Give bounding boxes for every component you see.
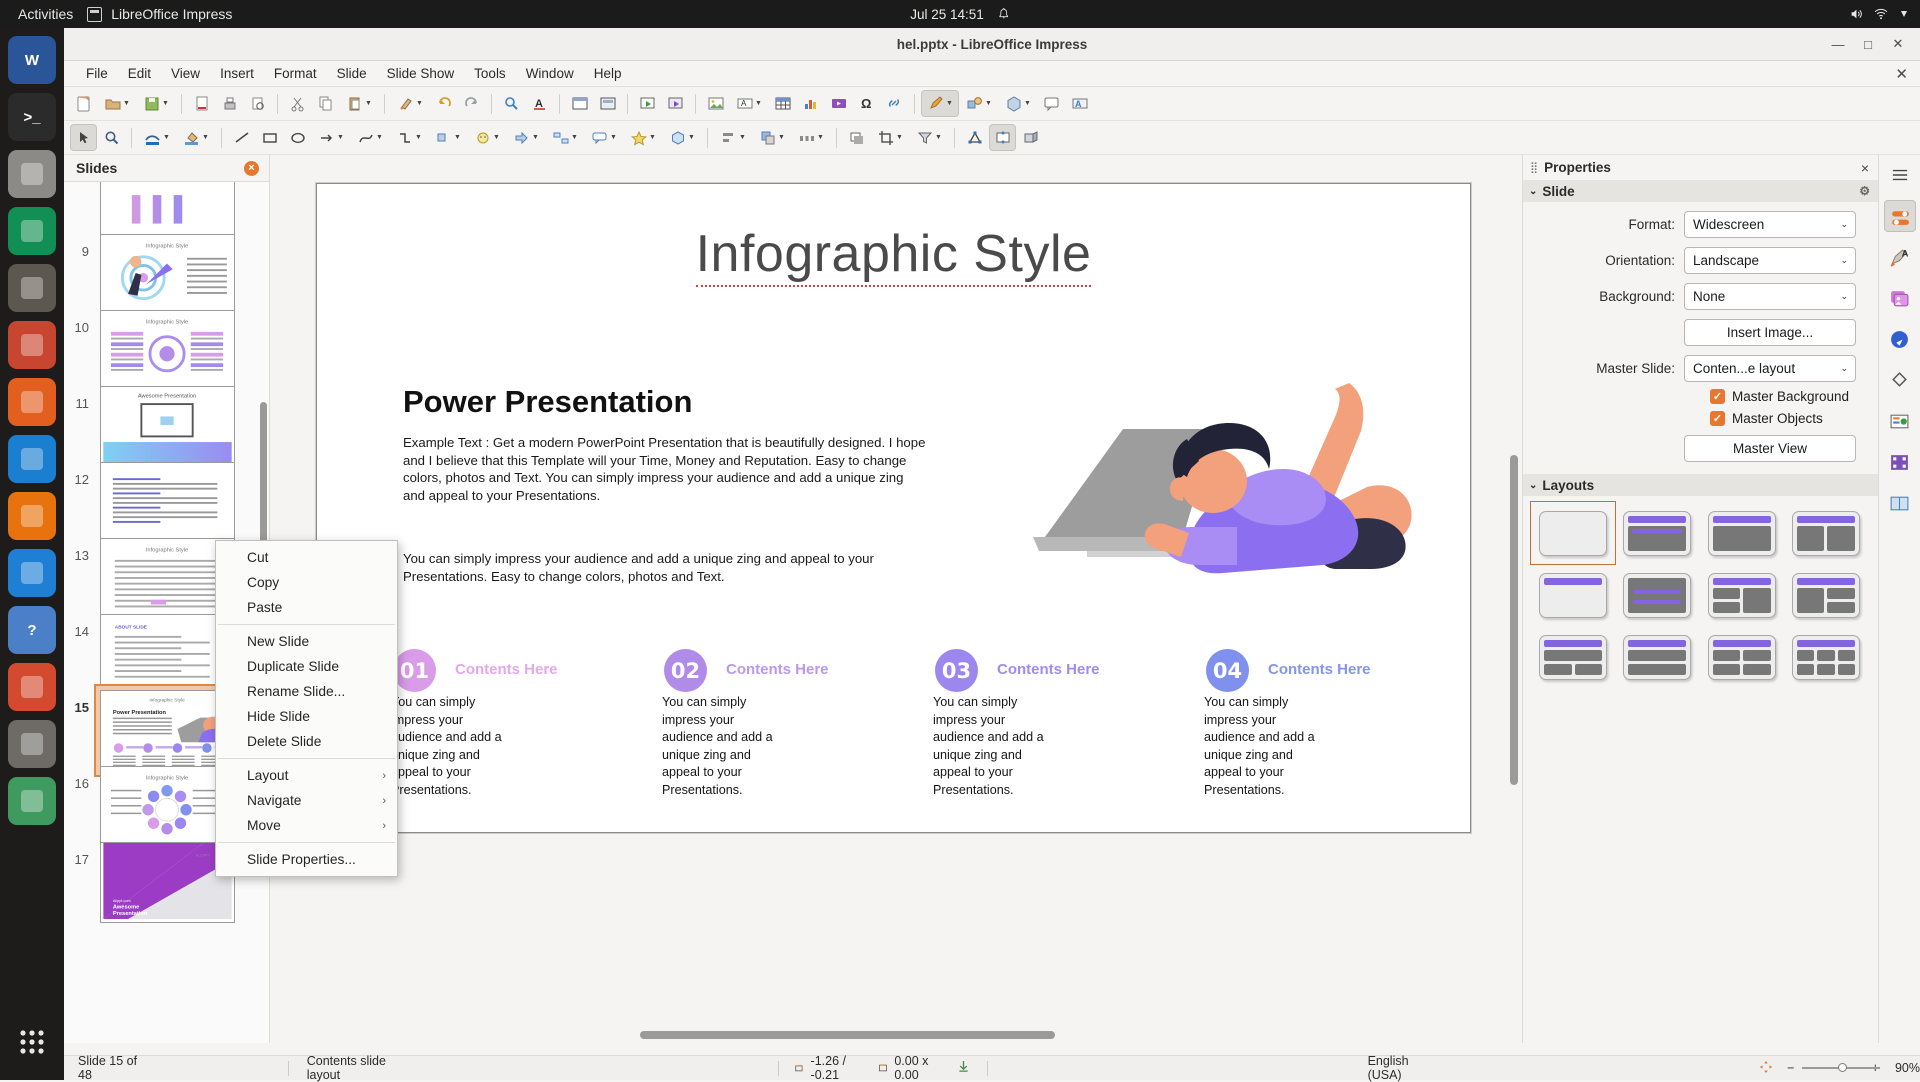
slide-number: 14	[64, 610, 96, 639]
menu-format[interactable]: Format	[264, 63, 327, 84]
active-app-label: LibreOffice Impress	[111, 6, 232, 22]
3d-objects-icon[interactable]: ▼	[999, 90, 1037, 117]
context-menu-item-rename-slide[interactable]: Rename Slide...	[216, 679, 397, 704]
orientation-select-value: Landscape	[1693, 253, 1759, 268]
layout-preview	[1539, 573, 1607, 618]
title-two-content-layout[interactable]	[1784, 502, 1868, 564]
layout-title-bar	[1544, 640, 1602, 647]
zoom-out-button[interactable]: −	[1787, 1061, 1794, 1075]
chevron-down-icon: ⌄	[1840, 219, 1848, 230]
master-slide-row: Master Slide: Conten...e layout ⌄	[1529, 355, 1856, 382]
gear-icon[interactable]: ⚙	[1859, 184, 1870, 198]
insert-image-button[interactable]: Insert Image...	[1684, 319, 1856, 346]
svg-text:Infographic Style: Infographic Style	[146, 319, 188, 325]
svg-text:A: A	[535, 98, 543, 110]
zoom-icon[interactable]	[98, 124, 125, 151]
master-view-button[interactable]: Master View	[1684, 435, 1856, 462]
toolbar-separator	[836, 128, 837, 148]
slide-preview[interactable]: Infographic Style	[100, 310, 235, 391]
context-menu-separator	[218, 842, 395, 843]
title-six-content-layout[interactable]	[1784, 626, 1868, 688]
dock-item-libreoffice-calc[interactable]	[8, 207, 56, 255]
layout-row-box	[1628, 664, 1686, 675]
woman-with-laptop-illustration[interactable]	[937, 369, 1427, 609]
copy-icon[interactable]	[312, 90, 339, 117]
context-menu-label: Delete Slide	[247, 734, 321, 749]
layout-three-box	[1797, 664, 1855, 675]
menu-insert[interactable]: Insert	[210, 63, 264, 84]
dock-item-libreoffice-writer[interactable]: W	[8, 36, 56, 84]
slide-number: 11	[64, 382, 96, 411]
insert-image-row: Insert Image...	[1529, 319, 1856, 346]
context-menu-label: Hide Slide	[247, 709, 310, 724]
power-icon	[1898, 8, 1910, 20]
standard-toolbar[interactable]: ▼▼▼▼AA▼Ω▼▼▼A	[64, 87, 1920, 121]
orientation-select-row: Orientation:Landscape⌄	[1529, 247, 1856, 274]
layout-two-box	[1713, 664, 1771, 675]
slide-editor[interactable]: Infographic Style Power Presentation Exa…	[270, 155, 1522, 1043]
layout-preview	[1623, 635, 1691, 680]
svg-text:Power Presentation: Power Presentation	[113, 710, 167, 716]
shapes-tab[interactable]	[1884, 364, 1916, 396]
line-icon[interactable]	[228, 124, 255, 151]
chevron-right-icon: ›	[382, 795, 386, 807]
toolbar-separator	[707, 128, 708, 148]
dock-item-help[interactable]: ?	[8, 606, 56, 654]
layout-preview	[1539, 511, 1607, 556]
start-from-current-slide-icon[interactable]	[662, 90, 689, 117]
title-content-layout[interactable]	[1615, 502, 1699, 564]
layout-three-box	[1797, 650, 1855, 661]
layouts-section-title: Layouts	[1542, 478, 1594, 493]
column-body-01[interactable]: You can simply impress your audience and…	[391, 694, 509, 799]
master-slide-select[interactable]: Conten...e layout ⌄	[1684, 355, 1856, 382]
checkbox-label: Master Background	[1732, 389, 1849, 404]
menu-help[interactable]: Help	[584, 63, 632, 84]
toggle-extrusion-icon[interactable]	[1017, 124, 1044, 151]
points-icon[interactable]	[961, 124, 988, 151]
layout-preview	[1792, 511, 1860, 556]
dock-item-gimp[interactable]	[8, 264, 56, 312]
redo-icon[interactable]	[458, 90, 485, 117]
context-menu-item-hide-slide[interactable]: Hide Slide	[216, 704, 397, 729]
zoom-slider[interactable]	[1802, 1062, 1863, 1074]
toolbar-separator	[559, 94, 560, 114]
ellipse-icon[interactable]	[284, 124, 311, 151]
svg-text:A: A	[1075, 99, 1082, 109]
gnome-top-bar: Activities LibreOffice Impress Jul 25 14…	[0, 0, 1920, 28]
connector-icon[interactable]: ▼	[390, 124, 428, 151]
toolbar-separator	[384, 94, 385, 114]
properties-sidebar[interactable]: ⣿ Properties × ⌄ Slide ⚙ Format:Widescre…	[1522, 155, 1920, 1043]
slide-title[interactable]: Infographic Style	[317, 224, 1470, 284]
layout-grid[interactable]	[1523, 496, 1878, 688]
context-menu-label: Rename Slide...	[247, 684, 345, 699]
title-four-content-layout[interactable]	[1700, 626, 1784, 688]
layouts-section-header[interactable]: ⌄ Layouts	[1523, 474, 1878, 496]
layout-content-box	[1713, 526, 1771, 551]
chevron-down-icon: ⌄	[1840, 291, 1848, 302]
object-size: 0.00 x 0.00	[894, 1054, 941, 1082]
drawing-toolbar[interactable]: ▼▼▼▼▼▼▼▼▼▼▼▼▼▼▼▼▼	[64, 121, 1920, 155]
slide-preview[interactable]	[100, 462, 235, 543]
layout-centered-box	[1628, 578, 1686, 613]
slide-canvas[interactable]: Infographic Style Power Presentation Exa…	[316, 183, 1471, 833]
insert-shapes-icon[interactable]: ▼	[960, 90, 998, 117]
svg-text:A: A	[1902, 248, 1909, 259]
svg-text:Allppt.com: Allppt.com	[113, 899, 131, 903]
find-replace-icon[interactable]	[498, 90, 525, 117]
context-menu-item-copy[interactable]: Copy	[216, 570, 397, 595]
align-icon[interactable]: ▼	[714, 124, 752, 151]
toolbar-separator	[181, 94, 182, 114]
context-menu-label: Move	[247, 818, 281, 833]
dock-item-vlc[interactable]	[8, 492, 56, 540]
slide-counter: Slide 15 of 48	[78, 1054, 138, 1082]
context-menu-item-new-slide[interactable]: New Slide	[216, 629, 397, 654]
blank-layout[interactable]	[1531, 502, 1615, 564]
master-checkboxes[interactable]: ✓Master Background✓Master Objects	[1523, 389, 1878, 426]
layout-title-bar	[1628, 516, 1686, 523]
animation-tab[interactable]	[1884, 446, 1916, 478]
filter-icon[interactable]: ▼	[910, 124, 948, 151]
cursor-position-group: -1.26 / -0.21	[795, 1054, 863, 1082]
svg-text:Awesome: Awesome	[113, 905, 139, 911]
orientation-select[interactable]: Landscape⌄	[1684, 247, 1856, 274]
slide-transition-tab[interactable]	[1884, 487, 1916, 519]
context-menu-label: Cut	[247, 550, 268, 565]
context-menu-item-move[interactable]: Move›	[216, 813, 397, 838]
toolbar-separator	[221, 128, 222, 148]
slide-number: 17	[64, 838, 96, 867]
dock-item-vs-code[interactable]	[8, 549, 56, 597]
svg-text:Presentation: Presentation	[113, 911, 148, 917]
svg-text:ALLPPT: ALLPPT	[196, 853, 211, 857]
orientation-select-label: Orientation:	[1529, 253, 1684, 268]
menu-window[interactable]: Window	[516, 63, 584, 84]
layout-preview	[1539, 635, 1607, 680]
title-three-rows-layout[interactable]	[1615, 626, 1699, 688]
window-title: hel.pptx - LibreOffice Impress	[897, 37, 1088, 52]
new-document-icon[interactable]	[70, 90, 97, 117]
column-badge-02[interactable]: 02	[664, 649, 707, 692]
clock-area[interactable]: Jul 25 14:51	[910, 7, 1010, 22]
column-title-04[interactable]: Contents Here	[1268, 661, 1371, 678]
navigator-tab[interactable]	[1884, 323, 1916, 355]
arrange-icon[interactable]: ▼	[753, 124, 791, 151]
app-dock[interactable]: W>_?	[0, 28, 64, 1080]
activities-button[interactable]: Activities	[0, 6, 87, 22]
clock-label: Jul 25 14:51	[910, 7, 984, 22]
format-select[interactable]: Widescreen⌄	[1684, 211, 1856, 238]
svg-text:A: A	[741, 99, 747, 108]
slide-preview[interactable]: Awesome Presentation	[100, 386, 235, 467]
layout-title-bar	[1797, 578, 1855, 585]
styles-tab[interactable]: A	[1884, 241, 1916, 273]
slide-number: 13	[64, 534, 96, 563]
toolbar-separator	[131, 128, 132, 148]
3d-shapes-icon[interactable]: ▼	[663, 124, 701, 151]
insert-fontwork-icon[interactable]: A	[1066, 90, 1093, 117]
context-menu-item-layout[interactable]: Layout›	[216, 763, 397, 788]
layout-title-bar	[1713, 640, 1771, 647]
properties-tab[interactable]	[1884, 200, 1916, 232]
active-app-indicator[interactable]: LibreOffice Impress	[87, 6, 232, 22]
impress-app-icon	[87, 7, 102, 22]
network-icon	[1874, 7, 1888, 21]
slide-section-header[interactable]: ⌄ Slide ⚙	[1523, 180, 1878, 202]
column-badge-03[interactable]: 03	[935, 649, 978, 692]
context-menu-item-duplicate-slide[interactable]: Duplicate Slide	[216, 654, 397, 679]
context-menu-label: Duplicate Slide	[247, 659, 339, 674]
checkbox-master-background[interactable]: ✓Master Background	[1710, 389, 1878, 404]
insert-comment-icon[interactable]	[1038, 90, 1065, 117]
svg-text:Infographic Style: Infographic Style	[146, 243, 188, 249]
line-color-icon[interactable]: ▼	[138, 124, 176, 151]
insert-table-icon[interactable]	[769, 90, 796, 117]
menu-tools[interactable]: Tools	[464, 63, 516, 84]
checkbox-label: Master Objects	[1732, 411, 1823, 426]
dock-item-settings[interactable]	[8, 720, 56, 768]
layout-title-bar	[1797, 516, 1855, 523]
slide-number: 12	[64, 458, 96, 487]
check-icon: ✓	[1710, 389, 1725, 404]
editor-horizontal-scrollbar[interactable]	[640, 1031, 1055, 1039]
slide-section-title: Slide	[1542, 184, 1574, 199]
background-select-label: Background:	[1529, 289, 1684, 304]
close-window-button[interactable]: ✕	[1884, 32, 1912, 56]
gallery-tab[interactable]	[1884, 282, 1916, 314]
insert-hyperlink-icon[interactable]	[881, 90, 908, 117]
context-menu-label: Paste	[247, 600, 282, 615]
editor-vertical-scrollbar[interactable]	[1510, 455, 1518, 785]
language-indicator[interactable]: English (USA)	[1368, 1054, 1430, 1082]
dock-item-thunderbird[interactable]	[8, 435, 56, 483]
column-title-02[interactable]: Contents Here	[726, 661, 829, 678]
column-title-01[interactable]: Contents Here	[455, 661, 558, 678]
display-views-icon[interactable]	[566, 90, 593, 117]
context-menu-item-delete-slide[interactable]: Delete Slide	[216, 729, 397, 754]
clone-formatting-icon[interactable]: ▼	[391, 90, 429, 117]
distribute-icon[interactable]: ▼	[792, 124, 830, 151]
sidebar-header: ⣿ Properties ×	[1523, 155, 1878, 180]
svg-text:Infographic Style: Infographic Style	[146, 547, 188, 553]
column-body-02[interactable]: You can simply impress your audience and…	[662, 694, 780, 799]
menu-edit[interactable]: Edit	[118, 63, 161, 84]
chevron-down-icon: ⌄	[1529, 480, 1537, 491]
print-icon[interactable]	[216, 90, 243, 117]
svg-text:Ω: Ω	[861, 96, 871, 111]
dock-item-files[interactable]	[8, 150, 56, 198]
glue-points-icon[interactable]	[989, 124, 1016, 151]
fit-slide-icon[interactable]	[1759, 1060, 1773, 1077]
column-title-03[interactable]: Contents Here	[997, 661, 1100, 678]
maximize-button[interactable]: □	[1854, 32, 1882, 56]
layout-name: Contents slide layout	[307, 1054, 398, 1082]
layout-preview	[1708, 511, 1776, 556]
insert-image-icon[interactable]	[702, 90, 729, 117]
insert-chart-icon[interactable]	[797, 90, 824, 117]
title-content-two-bottom-layout[interactable]	[1531, 626, 1615, 688]
cut-icon[interactable]	[284, 90, 311, 117]
sidebar-title: Properties	[1544, 160, 1611, 175]
context-menu-label: Navigate	[247, 793, 301, 808]
paste-icon[interactable]: ▼	[340, 90, 378, 117]
close-document-button[interactable]: ✕	[1895, 65, 1908, 83]
fill-color-icon[interactable]: ▼	[177, 124, 215, 151]
slide-number: 10	[64, 306, 96, 335]
toolbar-separator	[954, 128, 955, 148]
master-slides-tab[interactable]	[1884, 405, 1916, 437]
start-from-first-slide-icon[interactable]	[634, 90, 661, 117]
column-body-03[interactable]: You can simply impress your audience and…	[933, 694, 1051, 799]
bell-icon	[997, 7, 1010, 21]
slide-properties-fields[interactable]: Format:Widescreen⌄Orientation:Landscape⌄…	[1523, 211, 1878, 310]
volume-icon	[1848, 7, 1864, 21]
context-menu-item-navigate[interactable]: Navigate›	[216, 788, 397, 813]
sidebar-grip-icon[interactable]: ⣿	[1530, 161, 1537, 174]
cursor-position-icon	[795, 1062, 805, 1074]
system-tray[interactable]	[1848, 7, 1910, 21]
dock-item-libreoffice-impress[interactable]	[8, 321, 56, 369]
callouts-icon[interactable]: ▼	[585, 124, 623, 151]
background-select[interactable]: None⌄	[1684, 283, 1856, 310]
layout-title-bar	[1544, 578, 1602, 585]
svg-text:Infographic Style: Infographic Style	[146, 775, 188, 781]
chevron-right-icon: ›	[382, 820, 386, 832]
context-menu-label: Slide Properties...	[247, 852, 356, 867]
object-size-group: 0.00 x 0.00	[878, 1054, 941, 1082]
layout-title-bar	[1628, 640, 1686, 647]
symbol-shapes-icon[interactable]: ▼	[468, 124, 506, 151]
svg-text:Awesome Presentation: Awesome Presentation	[138, 393, 196, 399]
insert-special-character-icon[interactable]: Ω	[853, 90, 880, 117]
sidebar-tab-rail[interactable]: A	[1878, 155, 1920, 1043]
slide-number: 16	[64, 762, 96, 791]
column-badge-01[interactable]: 01	[393, 649, 436, 692]
cursor-position: -1.26 / -0.21	[811, 1054, 863, 1082]
slide-paragraph-1[interactable]: Example Text : Get a modern PowerPoint P…	[403, 434, 927, 504]
open-icon[interactable]: ▼	[98, 90, 136, 117]
basic-shapes-icon[interactable]: ▼	[429, 124, 467, 151]
context-menu-item-cut[interactable]: Cut	[216, 545, 397, 570]
column-badge-04[interactable]: 04	[1206, 649, 1249, 692]
dock-item-rhythmbox[interactable]	[8, 663, 56, 711]
block-arrows-icon[interactable]: ▼	[507, 124, 545, 151]
format-select-label: Format:	[1529, 217, 1684, 232]
master-slide-label: Master Slide:	[1529, 361, 1684, 376]
context-menu-item-slide-properties[interactable]: Slide Properties...	[216, 847, 397, 872]
toolbar-separator	[914, 94, 915, 114]
layout-title-bar	[1713, 578, 1771, 585]
slide-context-menu[interactable]: CutCopyPasteNew SlideDuplicate SlideRena…	[215, 540, 398, 877]
zoom-level[interactable]: 90%	[1895, 1061, 1920, 1075]
impress-window: hel.pptx - LibreOffice Impress — □ ✕ Fil…	[64, 28, 1920, 1080]
title-content-block-layout[interactable]	[1700, 502, 1784, 564]
svg-text:Infographic Style: Infographic Style	[149, 697, 185, 703]
slide-title-text: Infographic Style	[696, 225, 1092, 287]
dock-item-firefox[interactable]	[8, 378, 56, 426]
chevron-down-icon: ⌄	[1840, 363, 1848, 374]
export-pdf-icon[interactable]	[188, 90, 215, 117]
slide-preview[interactable]: Infographic Style	[100, 234, 235, 315]
rectangle-icon[interactable]	[256, 124, 283, 151]
master-view-row: Master View	[1529, 435, 1856, 462]
context-menu-label: Layout	[247, 768, 288, 783]
master-slide-value: Conten...e layout	[1693, 361, 1795, 376]
slide-paragraph-2[interactable]: You can simply impress your audience and…	[403, 550, 927, 585]
arrow-icon[interactable]: ▼	[312, 124, 350, 151]
crop-icon[interactable]: ▼	[871, 124, 909, 151]
flowchart-icon[interactable]: ▼	[546, 124, 584, 151]
column-body-04[interactable]: You can simply impress your audience and…	[1204, 694, 1322, 799]
master-slide-icon[interactable]	[594, 90, 621, 117]
print-preview-icon[interactable]	[244, 90, 271, 117]
menu-slide[interactable]: Slide	[327, 63, 377, 84]
slide-panel-header: Slides ×	[64, 155, 269, 181]
toolbar-separator	[491, 94, 492, 114]
centered-text-layout[interactable]	[1615, 564, 1699, 626]
layout-split-left	[1713, 588, 1771, 613]
dock-item-ubuntu-software[interactable]	[8, 777, 56, 825]
slide-number: 15	[64, 686, 96, 715]
svg-text:ABOUT SLIDE: ABOUT SLIDE	[115, 624, 147, 630]
save-icon[interactable]: ▼	[137, 90, 175, 117]
toolbar-separator	[627, 94, 628, 114]
minimize-button[interactable]: —	[1824, 32, 1852, 56]
title-two-content-split-right-layout[interactable]	[1784, 564, 1868, 626]
context-menu-item-paste[interactable]: Paste	[216, 595, 397, 620]
shadow-icon[interactable]	[843, 124, 870, 151]
title-only-layout[interactable]	[1531, 564, 1615, 626]
window-titlebar: hel.pptx - LibreOffice Impress — □ ✕	[64, 28, 1920, 61]
menu-slide-show[interactable]: Slide Show	[377, 63, 465, 84]
chevron-down-icon: ⌄	[1529, 186, 1537, 197]
insert-textbox-icon[interactable]: A▼	[730, 90, 768, 117]
spelling-icon[interactable]: A	[526, 90, 553, 117]
format-select-value: Widescreen	[1693, 217, 1764, 232]
stars-icon[interactable]: ▼	[624, 124, 662, 151]
window-controls[interactable]: — □ ✕	[1824, 32, 1912, 56]
object-size-icon	[878, 1062, 888, 1074]
checkbox-master-objects[interactable]: ✓Master Objects	[1710, 411, 1878, 426]
insert-audio-video-icon[interactable]	[825, 90, 852, 117]
dock-item-terminal[interactable]: >_	[8, 93, 56, 141]
show-draw-functions-icon[interactable]: ▼	[921, 90, 959, 117]
menu-view[interactable]: View	[161, 63, 210, 84]
select-icon[interactable]	[70, 124, 97, 151]
save-status-icon[interactable]	[958, 1060, 969, 1076]
close-icon[interactable]: ×	[244, 161, 259, 176]
chevron-down-icon: ⌄	[1840, 255, 1848, 266]
context-menu-separator	[218, 624, 395, 625]
menu-file[interactable]: File	[76, 63, 118, 84]
layout-preview	[1623, 573, 1691, 618]
menu-bar[interactable]: FileEditViewInsertFormatSlideSlide ShowT…	[64, 61, 1920, 87]
curve-icon[interactable]: ▼	[351, 124, 389, 151]
undo-icon[interactable]	[430, 90, 457, 117]
close-icon[interactable]: ×	[1861, 160, 1869, 176]
dock-item-show-apps[interactable]	[8, 1018, 56, 1066]
layout-two-box	[1797, 526, 1855, 551]
toolbar-separator	[277, 94, 278, 114]
format-select-row: Format:Widescreen⌄	[1529, 211, 1856, 238]
check-icon: ✓	[1710, 411, 1725, 426]
title-two-content-split-left-layout[interactable]	[1700, 564, 1784, 626]
slide-heading[interactable]: Power Presentation	[403, 384, 692, 420]
layout-preview	[1792, 573, 1860, 618]
sidebar-menu-icon[interactable]	[1884, 159, 1916, 191]
